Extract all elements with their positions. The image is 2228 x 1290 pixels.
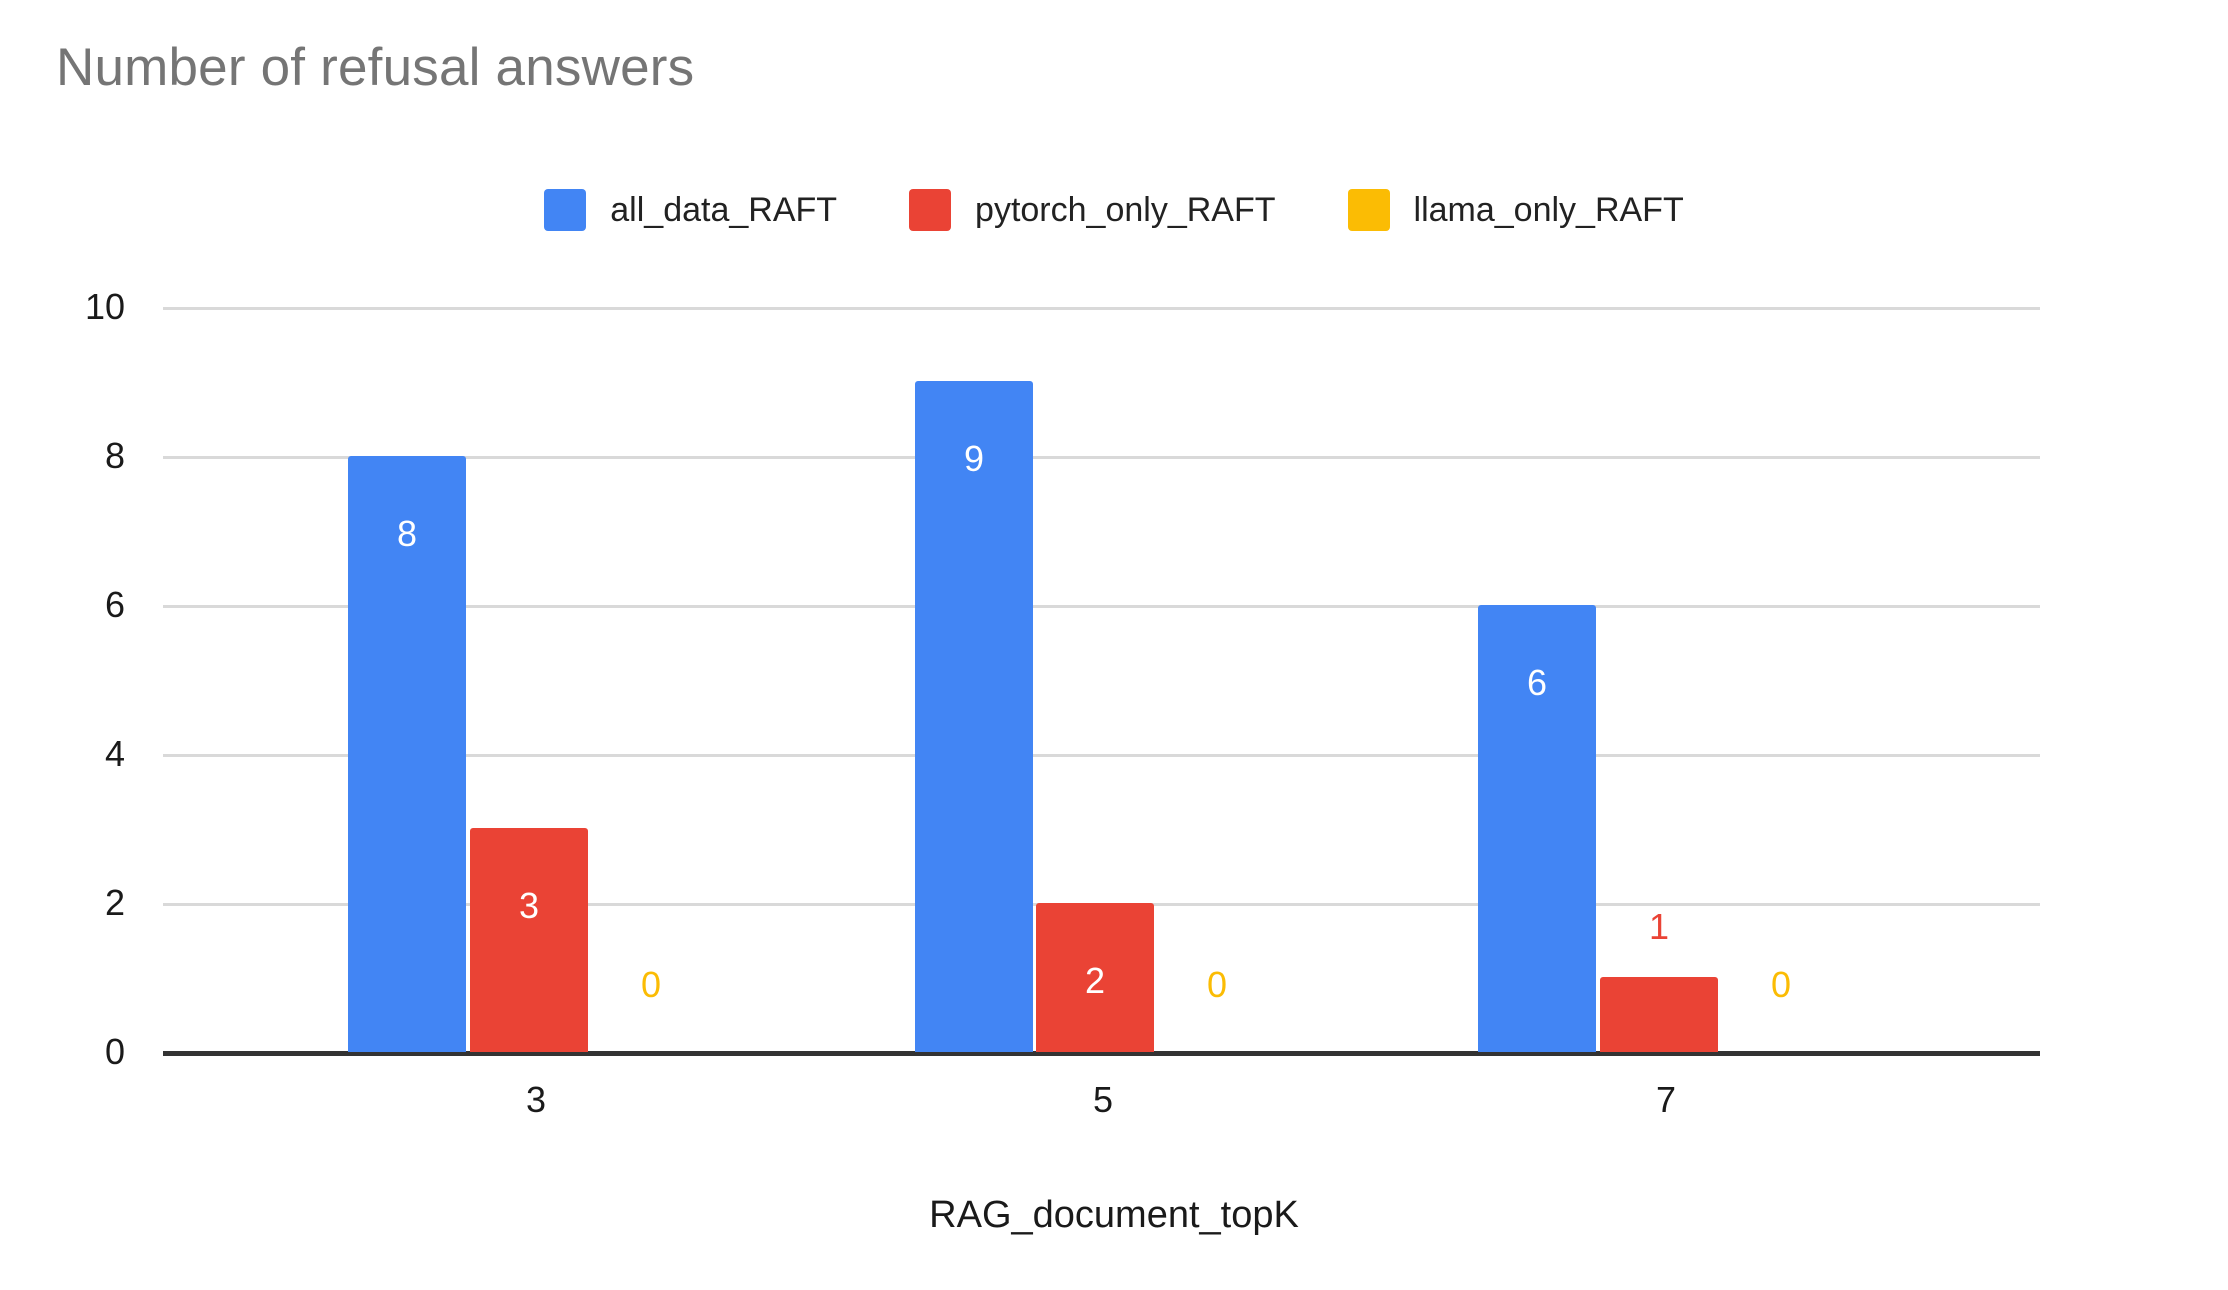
- bar-pytorch-only-raft-7[interactable]: [1600, 977, 1718, 1052]
- x-tick-5: 5: [983, 1078, 1223, 1122]
- bar-value-llama-only-raft-5: 0: [1158, 967, 1276, 1003]
- bar-pytorch-only-raft-5[interactable]: 2: [1036, 903, 1154, 1052]
- legend-label-llama-only-raft: llama_only_RAFT: [1414, 189, 1684, 231]
- legend-label-pytorch-only-raft: pytorch_only_RAFT: [975, 189, 1275, 231]
- y-tick-8: 8: [0, 438, 125, 474]
- bar-pytorch-only-raft-3[interactable]: 3: [470, 828, 588, 1052]
- bar-value-pytorch-only-raft-5: 2: [1036, 963, 1154, 999]
- legend-item-pytorch-only-raft[interactable]: pytorch_only_RAFT: [909, 189, 1275, 231]
- legend-swatch-blue-icon: [544, 189, 586, 231]
- legend-item-all-data-raft[interactable]: all_data_RAFT: [544, 189, 837, 231]
- legend-label-all-data-raft: all_data_RAFT: [610, 189, 837, 231]
- chart-title: Number of refusal answers: [56, 36, 694, 100]
- legend-item-llama-only-raft[interactable]: llama_only_RAFT: [1348, 189, 1684, 231]
- y-tick-10: 10: [0, 289, 125, 325]
- plot-area: 8 3 0 9 2 0 6 1 0: [163, 307, 2040, 1052]
- bar-all-data-raft-5[interactable]: 9: [915, 381, 1033, 1052]
- y-tick-0: 0: [0, 1034, 125, 1070]
- bar-value-pytorch-only-raft-7: 1: [1600, 909, 1718, 945]
- bar-value-llama-only-raft-3: 0: [592, 967, 710, 1003]
- bar-value-pytorch-only-raft-3: 3: [470, 888, 588, 924]
- chart-legend: all_data_RAFT pytorch_only_RAFT llama_on…: [0, 185, 2228, 235]
- gridline-10: [163, 307, 2040, 310]
- bar-value-all-data-raft-7: 6: [1478, 665, 1596, 701]
- bar-all-data-raft-3[interactable]: 8: [348, 456, 466, 1052]
- chart-container: Number of refusal answers all_data_RAFT …: [0, 0, 2228, 1290]
- bar-value-all-data-raft-5: 9: [915, 441, 1033, 477]
- legend-swatch-yellow-icon: [1348, 189, 1390, 231]
- x-axis-title: RAG_document_topK: [0, 1192, 2228, 1238]
- y-tick-6: 6: [0, 587, 125, 623]
- y-tick-2: 2: [0, 885, 125, 921]
- x-tick-7: 7: [1546, 1078, 1786, 1122]
- x-tick-3: 3: [416, 1078, 656, 1122]
- y-tick-4: 4: [0, 736, 125, 772]
- bar-value-llama-only-raft-7: 0: [1722, 967, 1840, 1003]
- bar-value-all-data-raft-3: 8: [348, 516, 466, 552]
- legend-swatch-red-icon: [909, 189, 951, 231]
- bar-all-data-raft-7[interactable]: 6: [1478, 605, 1596, 1052]
